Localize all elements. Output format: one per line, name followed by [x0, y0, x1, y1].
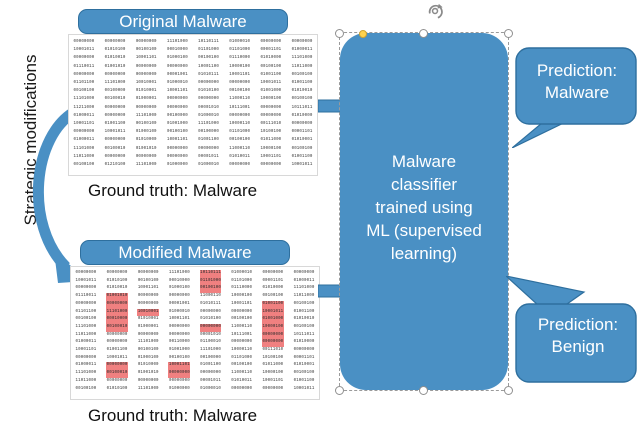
binary-byte: 00000000 — [260, 104, 282, 112]
binary-byte: 00000000 — [260, 38, 282, 46]
binary-byte: 10111011 — [291, 104, 313, 112]
binary-byte: 00000000 — [106, 378, 128, 386]
binary-byte: 00000000 — [231, 386, 253, 394]
binary-byte: 10001101 — [262, 378, 284, 386]
binary-row: 0000000000000000000000001110100010110111… — [75, 270, 315, 278]
binary-row: 0000000001010010100011010100010000100100… — [75, 285, 315, 293]
binary-byte: 00100100 — [198, 54, 220, 62]
binary-byte: 00000000 — [291, 38, 313, 46]
binary-byte: 01000100 — [168, 285, 190, 293]
binary-byte: 11101000 — [166, 38, 188, 46]
binary-row: 1000101101010100001001000001000001101000… — [75, 278, 315, 286]
binary-byte: 10001100 — [198, 63, 220, 71]
binary-byte: 00000000 — [166, 153, 188, 161]
binary-row: 1110100000100010010000010000000000000000… — [73, 95, 313, 103]
binary-byte: 00100100 — [260, 63, 282, 71]
binary-byte: 00100100 — [291, 71, 313, 79]
binary-row: 0111001101001010000000000000000011000110… — [75, 293, 315, 301]
binary-byte: 00100000 — [104, 87, 126, 95]
binary-byte: 00000000 — [75, 270, 97, 278]
binary-row: 0000000000000000000000000000100101010111… — [75, 301, 315, 309]
binary-byte: 00000000 — [75, 301, 97, 309]
binary-byte: 01010011 — [231, 378, 253, 386]
binary-byte: 01000100 — [166, 54, 188, 62]
binary-row: 1110100000100010010010100000000000000000… — [73, 145, 313, 153]
binary-byte: 11101000 — [75, 324, 97, 332]
binary-row: 1110100000100010010010100000000000000000… — [75, 370, 315, 378]
binary-byte: 00000000 — [166, 145, 188, 153]
binary-byte: 11000110 — [229, 95, 251, 103]
binary-byte: 10111001 — [231, 332, 253, 340]
binary-byte: 00100010 — [104, 95, 126, 103]
binary-byte: 00100100 — [137, 278, 159, 286]
binary-byte-modified: 01001010 — [106, 293, 128, 301]
binary-byte: 00100100 — [291, 145, 313, 153]
binary-byte: 01001100 — [291, 79, 313, 87]
binary-byte: 01000011 — [75, 339, 97, 347]
binary-byte: 01101000 — [229, 46, 251, 54]
binary-byte: 01010011 — [229, 153, 251, 161]
binary-byte: 00100100 — [166, 128, 188, 136]
caption-ground-truth-top: Ground truth: Malware — [88, 181, 257, 201]
binary-byte: 00100100 — [293, 301, 315, 309]
binary-byte: 01101100 — [73, 79, 95, 87]
binary-row: 1101100000000000000000000000000000001011… — [75, 378, 315, 386]
binary-row: 1000101101010100001001000001000001101000… — [73, 46, 313, 54]
binary-byte: 01000010 — [168, 309, 190, 317]
binary-byte: 00000000 — [198, 79, 220, 87]
callout-prediction-malware-label: Prediction:Malware — [514, 60, 640, 104]
binary-byte: 11101000 — [293, 285, 315, 293]
text-line: learning) — [340, 242, 508, 265]
binary-byte: 11101000 — [104, 79, 126, 87]
text-line: Malware — [340, 150, 508, 173]
binary-byte: 11101000 — [200, 347, 222, 355]
binary-byte: 01001100 — [106, 347, 128, 355]
binary-byte: 01010010 — [106, 285, 128, 293]
binary-byte: 00000000 — [135, 104, 157, 112]
binary-byte-modified: 10110111 — [200, 270, 222, 278]
binary-byte: 10001011 — [293, 386, 315, 394]
binary-byte: 00001101 — [291, 128, 313, 136]
binary-byte: 00001010 — [198, 104, 220, 112]
text-line: Malware — [514, 82, 640, 104]
binary-byte: 01000001 — [135, 95, 157, 103]
binary-byte: 11011000 — [75, 378, 97, 386]
binary-byte: 00100100 — [135, 120, 157, 128]
binary-byte-modified: 00000000 — [168, 370, 190, 378]
binary-byte: 11101000 — [168, 270, 190, 278]
binary-byte: 00000000 — [106, 339, 128, 347]
binary-byte: 10000100 — [260, 95, 282, 103]
binary-byte: 11101000 — [75, 370, 97, 378]
binary-byte: 11011000 — [293, 293, 315, 301]
binary-byte: 01010100 — [106, 386, 128, 394]
binary-byte: 10001101 — [135, 54, 157, 62]
binary-byte: 10001101 — [260, 153, 282, 161]
binary-byte: 01001010 — [135, 145, 157, 153]
resize-handle-bottom-left[interactable] — [335, 386, 344, 395]
binary-byte: 01001010 — [137, 370, 159, 378]
binary-byte: 11101000 — [198, 120, 220, 128]
binary-byte: 00000000 — [137, 378, 159, 386]
binary-byte: 01000011 — [73, 136, 95, 144]
binary-byte: 10100100 — [262, 355, 284, 363]
binary-byte: 01110011 — [73, 63, 95, 71]
binary-byte: 00000000 — [198, 95, 220, 103]
binary-byte: 00000000 — [137, 301, 159, 309]
binary-byte: 01001000 — [260, 87, 282, 95]
text-line: ML (supervised — [340, 219, 508, 242]
binary-byte: 11101000 — [135, 112, 157, 120]
caption-ground-truth-bottom: Ground truth: Malware — [88, 406, 257, 426]
binary-byte: 11000110 — [231, 370, 253, 378]
binary-byte: 00001001 — [166, 71, 188, 79]
binary-byte-modified: 00000000 — [200, 324, 222, 332]
binary-byte: 01001000 — [166, 120, 188, 128]
binary-byte: 01101100 — [75, 309, 97, 317]
binary-byte: 01000100 — [137, 355, 159, 363]
binary-row: 0110110011101000100100010100001000000000… — [75, 309, 315, 317]
binary-byte: 00100100 — [291, 95, 313, 103]
binary-byte: 01000000 — [166, 161, 188, 169]
binary-byte: 01010000 — [137, 362, 159, 370]
binary-byte: 01011000 — [260, 136, 282, 144]
binary-byte: 01101000 — [231, 355, 253, 363]
banner-original-label: Original Malware — [119, 12, 247, 32]
binary-row: 1000110101001100001001000100100011101000… — [73, 120, 313, 128]
text-line: trained using — [340, 196, 508, 219]
binary-row: 0010010001010100111010000100000001000010… — [75, 386, 315, 394]
diagram-canvas: Strategic modifications Original Malware… — [0, 0, 640, 430]
text-line: Benign — [516, 336, 640, 358]
binary-byte: 01000010 — [198, 112, 220, 120]
binary-byte: 01010100 — [106, 278, 128, 286]
binary-row: 1101100000000000000000000000000000001011… — [73, 153, 313, 161]
binary-row: 0100001100000000010100001000110101001100… — [75, 362, 315, 370]
binary-byte-modified: 10001011 — [262, 309, 284, 317]
binary-row: 1101100000000000000000000000000000001010… — [75, 332, 315, 340]
binary-row: 0111001101001010000000000000000010001100… — [73, 63, 313, 71]
binary-byte: 10001101 — [75, 347, 97, 355]
binary-byte: 00000000 — [198, 145, 220, 153]
binary-byte: 00000000 — [104, 112, 126, 120]
binary-byte: 00000000 — [229, 79, 251, 87]
binary-byte: 00000000 — [104, 38, 126, 46]
classifier-label: Malwareclassifiertrained usingML (superv… — [340, 150, 508, 265]
binary-byte: 10001101 — [229, 71, 251, 79]
binary-byte: 00001101 — [293, 355, 315, 363]
binary-byte: 00000000 — [291, 120, 313, 128]
binary-byte: 00111010 — [260, 120, 282, 128]
binary-byte: 00000000 — [135, 71, 157, 79]
binary-byte: 00000000 — [262, 270, 284, 278]
binary-byte: 01001100 — [293, 309, 315, 317]
binary-byte-modified: 00010000 — [106, 316, 128, 324]
binary-byte: 01001100 — [198, 136, 220, 144]
binary-byte: 00100010 — [104, 145, 126, 153]
binary-byte-modified: 00000000 — [262, 339, 284, 347]
binary-row: 0000000000000000000000001110100010110111… — [73, 38, 313, 46]
binary-byte: 00100100 — [229, 87, 251, 95]
binary-byte-modified: 10001101 — [168, 362, 190, 370]
binary-byte: 01010000 — [260, 54, 282, 62]
binary-byte: 00010000 — [168, 278, 190, 286]
binary-byte: 11011000 — [75, 332, 97, 340]
binary-byte: 00000000 — [75, 355, 97, 363]
binary-byte: 00100100 — [73, 87, 95, 95]
binary-byte: 00000000 — [135, 38, 157, 46]
binary-byte: 10001011 — [291, 161, 313, 169]
banner-modified-malware: Modified Malware — [80, 240, 290, 265]
binary-byte: 10110111 — [198, 38, 220, 46]
binary-byte: 10100100 — [260, 128, 282, 136]
binary-byte: 11011000 — [291, 63, 313, 71]
binary-byte: 10111001 — [229, 104, 251, 112]
binary-byte-modified: 00000000 — [106, 301, 128, 309]
binary-byte: 01000010 — [231, 270, 253, 278]
binary-byte: 01011000 — [262, 362, 284, 370]
binary-byte: 10001101 — [231, 301, 253, 309]
binary-byte-modified: 11101000 — [106, 309, 128, 317]
binary-byte: 00001011 — [200, 378, 222, 386]
binary-byte-modified: 00000000 — [106, 362, 128, 370]
binary-byte-modified: 01001000 — [262, 316, 284, 324]
binary-byte-modified: 01001100 — [262, 301, 284, 309]
text-line: Prediction: — [514, 60, 640, 82]
binary-byte: 10000100 — [260, 145, 282, 153]
binary-byte: 11101000 — [137, 386, 159, 394]
binary-byte: 01001100 — [291, 153, 313, 161]
binary-byte: 00100100 — [293, 324, 315, 332]
binary-byte: 00110000 — [168, 339, 190, 347]
binary-byte: 00000000 — [166, 104, 188, 112]
binary-byte: 01010010 — [104, 54, 126, 62]
binary-byte: 00100100 — [75, 386, 97, 394]
binary-panel-modified: 0000000000000000000000001110100010110111… — [70, 266, 320, 400]
binary-byte: 00100100 — [229, 136, 251, 144]
binary-byte: 01001000 — [168, 347, 190, 355]
binary-byte: 00010000 — [166, 46, 188, 54]
binary-byte: 00001101 — [260, 46, 282, 54]
binary-byte: 01101000 — [231, 278, 253, 286]
binary-byte: 10001101 — [168, 316, 190, 324]
binary-byte: 01010000 — [262, 285, 284, 293]
binary-byte-modified: 01101000 — [200, 278, 222, 286]
binary-byte: 11000110 — [231, 324, 253, 332]
resize-handle-bottom-center[interactable] — [419, 386, 428, 395]
binary-byte: 00000000 — [135, 153, 157, 161]
binary-byte: 01010000 — [135, 136, 157, 144]
binary-byte: 00100100 — [168, 355, 190, 363]
binary-byte: 01001100 — [260, 71, 282, 79]
binary-byte: 00000000 — [229, 161, 251, 169]
binary-byte-modified: 00000000 — [262, 332, 284, 340]
binary-byte-modified: 00100100 — [200, 285, 222, 293]
resize-handle-top-left[interactable] — [335, 29, 344, 38]
binary-byte: 11101000 — [73, 95, 95, 103]
binary-byte: 00000000 — [73, 71, 95, 79]
binary-byte: 00111010 — [262, 347, 284, 355]
binary-byte: 01001010 — [104, 63, 126, 71]
binary-byte-modified: 00100010 — [106, 370, 128, 378]
binary-byte: 01010000 — [291, 112, 313, 120]
binary-byte: 01110000 — [231, 285, 253, 293]
binary-byte: 01000010 — [229, 38, 251, 46]
binary-byte: 11101000 — [135, 161, 157, 169]
binary-byte: 11101000 — [137, 339, 159, 347]
binary-byte: 11101000 — [291, 54, 313, 62]
binary-byte: 11101000 — [73, 145, 95, 153]
binary-byte: 00000000 — [137, 332, 159, 340]
binary-byte: 01010010 — [293, 316, 315, 324]
binary-byte: 01001100 — [293, 378, 315, 386]
resize-handle-top-center[interactable] — [419, 29, 428, 38]
binary-byte: 01110000 — [229, 54, 251, 62]
binary-byte: 00000000 — [200, 309, 222, 317]
binary-byte: 11211000 — [73, 104, 95, 112]
binary-byte: 01010100 — [198, 87, 220, 95]
binary-row: 0010010000010000010100011000110101010100… — [75, 316, 315, 324]
binary-byte: 00000000 — [168, 332, 190, 340]
binary-byte: 00000000 — [73, 54, 95, 62]
binary-byte: 01100010 — [200, 339, 222, 347]
binary-byte: 00001011 — [198, 153, 220, 161]
binary-byte: 00000000 — [260, 112, 282, 120]
binary-byte: 01010001 — [137, 316, 159, 324]
binary-row: 0100001100000000111010000011000001100010… — [75, 339, 315, 347]
binary-byte: 00000000 — [106, 332, 128, 340]
binary-byte: 10000110 — [231, 347, 253, 355]
binary-byte: 10000110 — [229, 120, 251, 128]
binary-byte: 00000000 — [229, 112, 251, 120]
binary-byte: 11011000 — [73, 153, 95, 161]
binary-byte: 10000100 — [229, 63, 251, 71]
banner-original-malware: Original Malware — [78, 9, 288, 34]
binary-byte: 00100100 — [137, 347, 159, 355]
binary-byte: 01000010 — [198, 161, 220, 169]
binary-byte: 10001011 — [104, 128, 126, 136]
binary-byte-modified: 10000100 — [262, 324, 284, 332]
binary-byte: 01010001 — [293, 362, 315, 370]
binary-byte: 01000011 — [75, 362, 97, 370]
binary-byte: 01000001 — [137, 324, 159, 332]
binary-byte: 10010001 — [135, 79, 157, 87]
binary-byte: 00000000 — [231, 339, 253, 347]
binary-byte: 00100000 — [200, 355, 222, 363]
binary-row: 0110110011101000100100010100001000000000… — [73, 79, 313, 87]
binary-byte: 00100100 — [262, 293, 284, 301]
binary-byte: 00000000 — [262, 386, 284, 394]
text-line: Prediction: — [516, 314, 640, 336]
binary-byte: 11000110 — [200, 293, 222, 301]
resize-handle-top-right[interactable] — [504, 29, 513, 38]
binary-byte: 00001010 — [200, 332, 222, 340]
binary-byte: 00100100 — [231, 316, 253, 324]
binary-byte: 00100000 — [198, 128, 220, 136]
binary-byte: 10001011 — [75, 278, 97, 286]
binary-row: 0000000000000000000000000000100101010111… — [73, 71, 313, 79]
shape-adjust-handle[interactable] — [359, 30, 367, 38]
binary-byte: 10001011 — [73, 46, 95, 54]
binary-row: 0010010000100000010100011000110101010100… — [73, 87, 313, 95]
binary-byte: 00000000 — [293, 347, 315, 355]
binary-byte: 01001100 — [104, 120, 126, 128]
binary-panel-original: 0000000000000000000000001110100010110111… — [68, 34, 318, 176]
binary-byte: 00000000 — [168, 324, 190, 332]
binary-byte: 10000100 — [231, 293, 253, 301]
binary-row: 1000110101001100001001000100100011101000… — [75, 347, 315, 355]
binary-row: 1110100000100010010000010000000000000000… — [75, 324, 315, 332]
binary-byte: 00000000 — [104, 71, 126, 79]
binary-byte: 01010000 — [293, 339, 315, 347]
binary-byte: 01010001 — [135, 87, 157, 95]
binary-byte: 01010111 — [198, 71, 220, 79]
binary-byte: 10111011 — [293, 332, 315, 340]
binary-byte: 01010100 — [200, 316, 222, 324]
binary-byte: 01101000 — [229, 128, 251, 136]
binary-byte: 00000000 — [200, 370, 222, 378]
binary-byte: 00100100 — [75, 316, 97, 324]
binary-byte: 01101000 — [198, 46, 220, 54]
text-line: classifier — [340, 173, 508, 196]
rotate-handle-icon[interactable] — [426, 2, 445, 21]
binary-byte: 10001101 — [73, 120, 95, 128]
binary-byte: 00100100 — [135, 46, 157, 54]
binary-byte: 00000000 — [106, 270, 128, 278]
binary-byte: 01001100 — [200, 362, 222, 370]
binary-byte: 00000000 — [260, 161, 282, 169]
binary-byte: 00000000 — [166, 63, 188, 71]
binary-byte: 10001101 — [137, 285, 159, 293]
binary-byte: 10000100 — [262, 370, 284, 378]
binary-byte: 00000000 — [293, 270, 315, 278]
binary-byte: 00001101 — [262, 278, 284, 286]
binary-byte: 00100100 — [73, 161, 95, 169]
binary-byte: 00000000 — [137, 270, 159, 278]
binary-byte: 00000000 — [137, 293, 159, 301]
binary-byte: 00000000 — [231, 309, 253, 317]
binary-byte: 01000000 — [168, 386, 190, 394]
binary-byte: 00100100 — [293, 370, 315, 378]
binary-byte: 10001101 — [166, 136, 188, 144]
binary-byte-modified: 10010001 — [137, 309, 159, 317]
binary-byte: 01010100 — [104, 46, 126, 54]
binary-byte: 01000011 — [73, 112, 95, 120]
binary-byte: 01010010 — [291, 87, 313, 95]
binary-byte: 11000110 — [229, 145, 251, 153]
binary-byte: 00000000 — [168, 293, 190, 301]
callout-prediction-benign-label: Prediction:Benign — [516, 314, 640, 358]
binary-byte: 00000000 — [104, 104, 126, 112]
binary-byte: 00100100 — [231, 362, 253, 370]
binary-byte: 01010001 — [291, 136, 313, 144]
binary-byte: 10001101 — [166, 87, 188, 95]
binary-row: 0100001100000000111010000010000001000010… — [73, 112, 313, 120]
binary-byte: 00000000 — [104, 136, 126, 144]
binary-row: 1121100000000000000000000000000000001010… — [73, 104, 313, 112]
binary-row: 0000000010001011010001000010010000100000… — [75, 355, 315, 363]
binary-byte: 01000011 — [291, 46, 313, 54]
binary-byte: 01000011 — [293, 278, 315, 286]
binary-byte-modified: 00100010 — [106, 324, 128, 332]
binary-byte: 00000000 — [104, 153, 126, 161]
binary-byte: 01010111 — [200, 301, 222, 309]
binary-byte: 01210100 — [104, 161, 126, 169]
binary-byte: 00000000 — [73, 128, 95, 136]
binary-byte: 00000000 — [73, 38, 95, 46]
binary-byte: 10001011 — [260, 79, 282, 87]
